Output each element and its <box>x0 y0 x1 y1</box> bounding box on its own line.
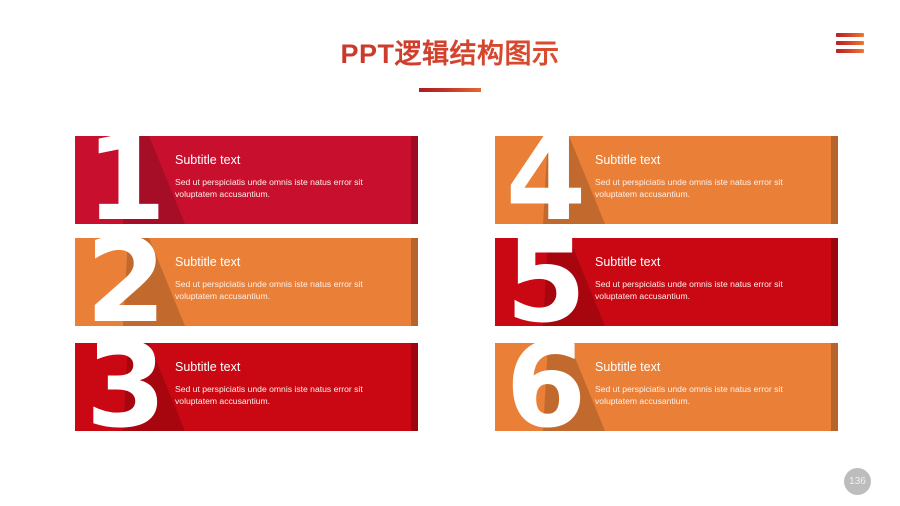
card-subtitle-1: Subtitle text <box>175 153 403 167</box>
card-description-2: Sed ut perspiciatis unde omnis iste natu… <box>175 278 403 303</box>
card-description-1: Sed ut perspiciatis unde omnis iste natu… <box>175 176 403 201</box>
card-body-5: Subtitle text Sed ut perspiciatis unde o… <box>595 255 823 303</box>
card-subtitle-4: Subtitle text <box>595 153 823 167</box>
card-description-6: Sed ut perspiciatis unde omnis iste natu… <box>595 383 823 408</box>
card-subtitle-5: Subtitle text <box>595 255 823 269</box>
card-description-3: Sed ut perspiciatis unde omnis iste natu… <box>175 383 403 408</box>
card-item-1[interactable]: 1 Subtitle text Sed ut perspiciatis unde… <box>75 136 418 224</box>
card-body-2: Subtitle text Sed ut perspiciatis unde o… <box>175 255 403 303</box>
card-number-3: 3 <box>79 325 171 449</box>
card-subtitle-3: Subtitle text <box>175 360 403 374</box>
card-item-2[interactable]: 2 Subtitle text Sed ut perspiciatis unde… <box>75 238 418 326</box>
card-number-6: 6 <box>499 325 591 449</box>
card-description-5: Sed ut perspiciatis unde omnis iste natu… <box>595 278 823 303</box>
card-subtitle-2: Subtitle text <box>175 255 403 269</box>
card-description-4: Sed ut perspiciatis unde omnis iste natu… <box>595 176 823 201</box>
card-body-4: Subtitle text Sed ut perspiciatis unde o… <box>595 153 823 201</box>
card-body-1: Subtitle text Sed ut perspiciatis unde o… <box>175 153 403 201</box>
card-subtitle-6: Subtitle text <box>595 360 823 374</box>
page-number-badge: 136 <box>844 468 871 495</box>
card-item-6[interactable]: 6 Subtitle text Sed ut perspiciatis unde… <box>495 343 838 431</box>
card-item-3[interactable]: 3 Subtitle text Sed ut perspiciatis unde… <box>75 343 418 431</box>
card-item-4[interactable]: 4 Subtitle text Sed ut perspiciatis unde… <box>495 136 838 224</box>
diagram-card-grid: 1 Subtitle text Sed ut perspiciatis unde… <box>0 0 900 506</box>
card-body-3: Subtitle text Sed ut perspiciatis unde o… <box>175 360 403 408</box>
card-body-6: Subtitle text Sed ut perspiciatis unde o… <box>595 360 823 408</box>
card-item-5[interactable]: 5 Subtitle text Sed ut perspiciatis unde… <box>495 238 838 326</box>
